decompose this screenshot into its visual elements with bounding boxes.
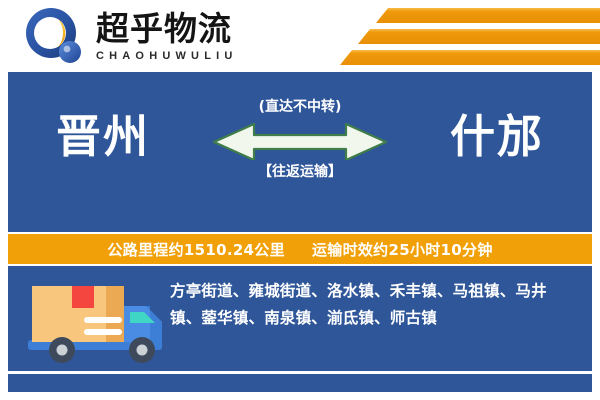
brand-name-cn: 超乎物流 xyxy=(96,12,238,47)
main-blue-panel: 晋州 (直达不中转) 【往返运输】 什邡 公路里程约1510.24公里 运输时效… xyxy=(8,72,592,392)
route-info-bar: 公路里程约1510.24公里 运输时效约25小时10分钟 xyxy=(8,232,592,266)
roundtrip-label: 【往返运输】 xyxy=(200,165,400,179)
origin-city-label: 晋州 xyxy=(56,114,150,159)
route-info-text: 公路里程约1510.24公里 运输时效约25小时10分钟 xyxy=(107,239,492,260)
route-row: 晋州 (直达不中转) 【往返运输】 什邡 xyxy=(8,72,592,232)
coverage-area-list: 方亭街道、雍城街道、洛水镇、禾丰镇、马祖镇、马井 镇、蓥华镇、南泉镇、湔氐镇、师… xyxy=(170,278,578,332)
speed-stripes-icon xyxy=(340,8,600,66)
coverage-area: 方亭街道、雍城街道、洛水镇、禾丰镇、马祖镇、马井 镇、蓥华镇、南泉镇、湔氐镇、师… xyxy=(8,266,592,392)
coverage-line-2: 镇、蓥华镇、南泉镇、湔氐镇、师古镇 xyxy=(170,305,578,332)
route-arrow-group: (直达不中转) 【往返运输】 xyxy=(200,100,400,179)
bidirectional-arrow-icon xyxy=(200,119,400,161)
logistics-route-banner: 超乎物流 CHAOHUWULIU 晋州 xyxy=(0,0,600,400)
panel-footer-strip xyxy=(8,374,592,392)
destination-city-label: 什邡 xyxy=(450,114,544,159)
duration-text: 运输时效约25小时10分钟 xyxy=(312,241,493,259)
brand-logo-block: 超乎物流 CHAOHUWULIU xyxy=(24,6,238,68)
circle-crescent-logo-icon xyxy=(24,6,86,68)
delivery-truck-icon xyxy=(22,272,182,372)
distance-text: 公路里程约1510.24公里 xyxy=(107,241,285,259)
brand-name-en: CHAOHUWULIU xyxy=(96,50,238,62)
direct-service-label: (直达不中转) xyxy=(200,100,400,114)
brand-text-block: 超乎物流 CHAOHUWULIU xyxy=(96,12,238,62)
coverage-line-1: 方亭街道、雍城街道、洛水镇、禾丰镇、马祖镇、马井 xyxy=(170,278,578,305)
banner-header: 超乎物流 CHAOHUWULIU xyxy=(0,0,600,72)
